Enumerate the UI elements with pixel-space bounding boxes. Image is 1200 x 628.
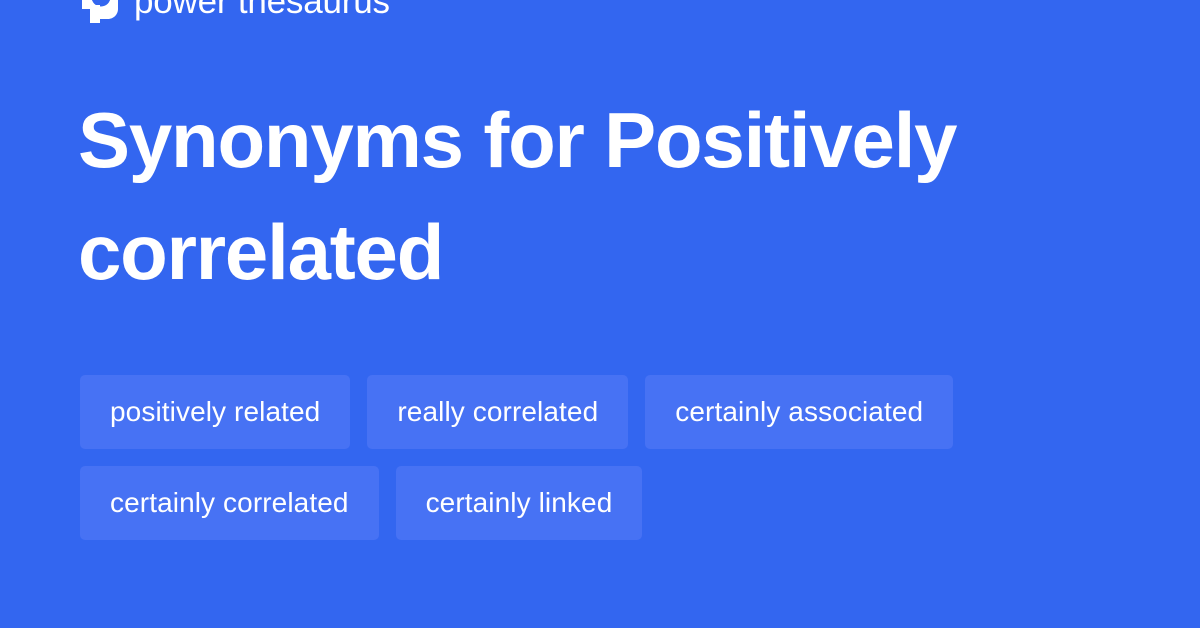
synonym-chip-list: positively related really correlated cer… (80, 375, 1140, 540)
synonym-chip[interactable]: certainly correlated (80, 466, 379, 540)
page-title: Synonyms for Positively correlated (78, 84, 1078, 308)
synonym-chip[interactable]: certainly associated (645, 375, 953, 449)
synonym-chip[interactable]: positively related (80, 375, 350, 449)
social-preview-card: power thesaurus Synonyms for Positively … (0, 0, 1200, 628)
brand-header[interactable]: power thesaurus (78, 0, 390, 28)
synonym-chip[interactable]: certainly linked (396, 466, 643, 540)
brand-name: power thesaurus (134, 0, 390, 23)
power-thesaurus-p-logo-icon (78, 0, 120, 23)
synonym-chip[interactable]: really correlated (367, 375, 628, 449)
